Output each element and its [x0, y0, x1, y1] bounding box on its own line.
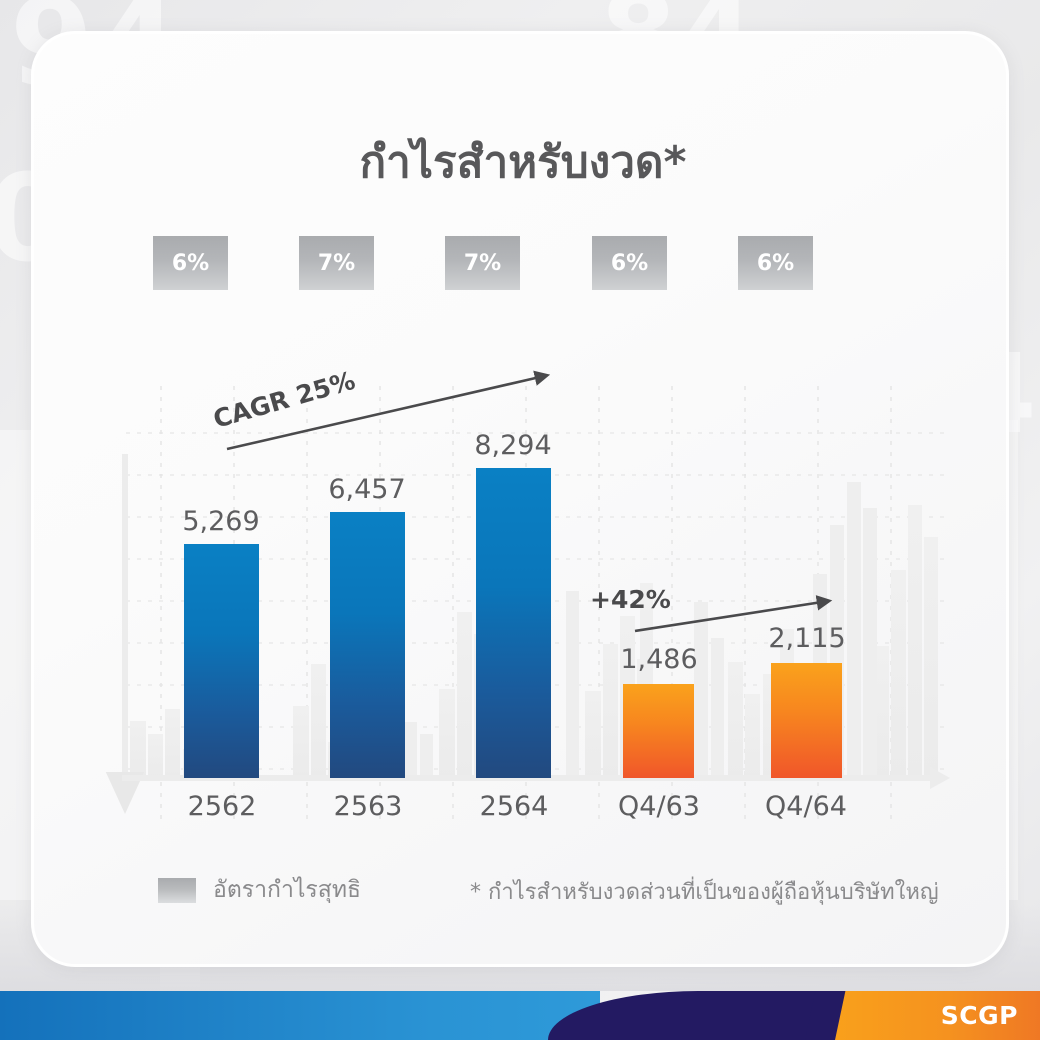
- x-axis-arrowhead: [930, 767, 950, 789]
- bar-chart-plot: 5,269 6,457 8,294 1,486 2,115 CAGR 25% +…: [34, 34, 1012, 970]
- brand-bar: SCGP: [0, 991, 1040, 1040]
- bar-q4-64: [771, 663, 842, 778]
- bar-2562: [184, 544, 259, 778]
- value-label-q4-63: 1,486: [584, 644, 734, 675]
- bar-2564: [476, 468, 551, 778]
- x-label-2563: 2563: [293, 791, 443, 822]
- x-label-q4-63: Q4/63: [584, 791, 734, 822]
- annotation-qoq: +42%: [590, 585, 671, 614]
- legend-swatch-net-margin: [158, 878, 196, 903]
- bar-q4-63: [623, 684, 694, 778]
- scgp-logo: SCGP: [941, 991, 1018, 1040]
- x-label-2562: 2562: [147, 791, 297, 822]
- brand-bar-blue-segment: [0, 991, 600, 1040]
- value-label-2562: 5,269: [146, 506, 296, 537]
- chart-card: กำไรสำหรับงวด* 6% 7% 7% 6% 6%: [31, 31, 1009, 967]
- bar-2563: [330, 512, 405, 778]
- chart-svg: [34, 34, 1012, 970]
- footnote: * กำไรสำหรับงวดส่วนที่เป็นของผู้ถือหุ้นบ…: [470, 874, 939, 909]
- value-label-2563: 6,457: [292, 474, 442, 505]
- legend-label-net-margin: อัตรากำไรสุทธิ: [213, 872, 361, 908]
- legend: อัตรากำไรสุทธิ: [158, 872, 361, 908]
- value-label-2564: 8,294: [438, 430, 588, 461]
- x-label-2564: 2564: [439, 791, 589, 822]
- value-label-q4-64: 2,115: [732, 623, 882, 654]
- x-label-q4-64: Q4/64: [731, 791, 881, 822]
